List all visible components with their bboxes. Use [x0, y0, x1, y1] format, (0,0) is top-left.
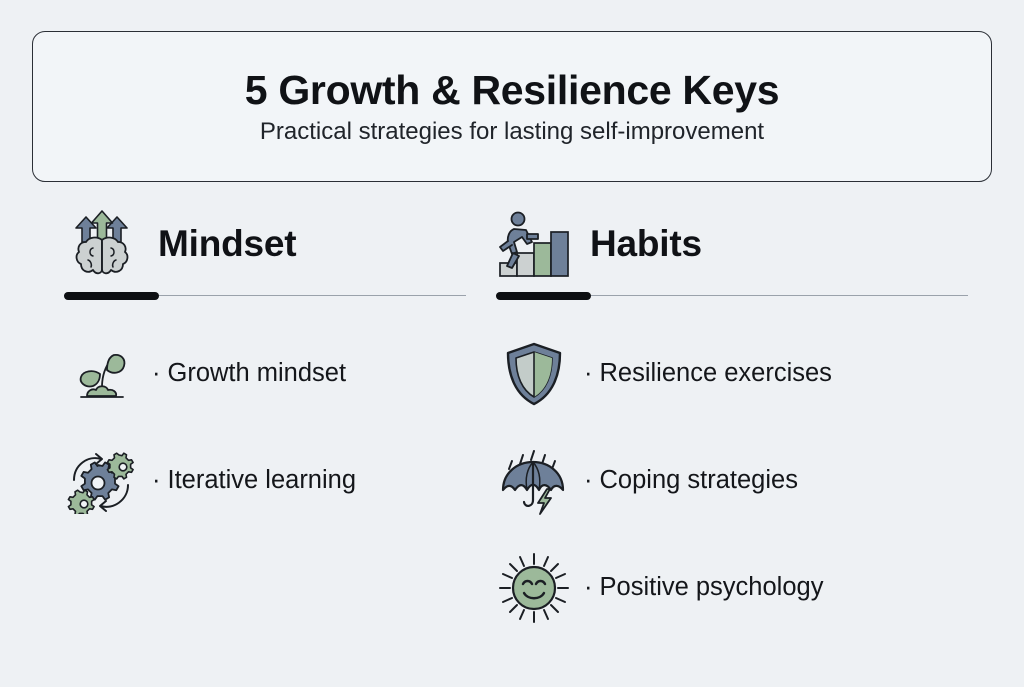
column-mindset: Mindset [0, 200, 484, 641]
section-title-habits: Habits [590, 223, 702, 265]
smiling-sun-icon [496, 552, 572, 624]
list-item: ·Resilience exercises [496, 320, 968, 427]
list-item-text: Coping strategies [600, 466, 798, 494]
list-item-label: ·Coping strategies [584, 466, 798, 495]
list-item-label: ·Resilience exercises [584, 359, 832, 388]
columns-container: Mindset [0, 200, 1024, 641]
umbrella-rain-icon [496, 445, 572, 517]
section-title-mindset: Mindset [158, 223, 296, 265]
list-item: ·Positive psychology [496, 534, 968, 641]
list-item-label: ·Growth mindset [152, 359, 346, 388]
bullet-marker: · [152, 466, 161, 495]
page-subtitle: Practical strategies for lasting self-im… [260, 119, 764, 145]
bullet-marker: · [584, 359, 593, 388]
bullet-marker: · [584, 466, 593, 495]
section-divider-habits [496, 292, 968, 300]
list-item: ·Coping strategies [496, 427, 968, 534]
list-item-label: ·Iterative learning [152, 466, 356, 495]
list-item-text: Iterative learning [168, 466, 357, 494]
bullet-marker: · [152, 359, 161, 388]
page-title: 5 Growth & Resilience Keys [245, 68, 780, 112]
section-divider-mindset [64, 292, 466, 300]
list-item: ·Iterative learning [64, 427, 466, 534]
gears-cycle-icon [64, 445, 140, 517]
bullet-marker: · [584, 573, 593, 602]
infographic-page: 5 Growth & Resilience Keys Practical str… [0, 0, 1024, 687]
header-card: 5 Growth & Resilience Keys Practical str… [32, 31, 992, 182]
list-item-label: ·Positive psychology [584, 573, 823, 602]
brain-growth-icon [64, 206, 140, 282]
list-item-text: Resilience exercises [600, 359, 832, 387]
section-header-mindset: Mindset [64, 200, 466, 288]
column-habits: Habits ·Resilience exercises [484, 200, 1024, 641]
list-item: ·Growth mindset [64, 320, 466, 427]
list-item-text: Positive psychology [600, 573, 824, 601]
seedling-icon [64, 338, 140, 410]
divider-accent-bar [496, 292, 591, 300]
person-climbing-bars-icon [496, 206, 572, 282]
list-item-text: Growth mindset [168, 359, 347, 387]
divider-accent-bar [64, 292, 159, 300]
section-header-habits: Habits [496, 200, 968, 288]
shield-icon [496, 338, 572, 410]
